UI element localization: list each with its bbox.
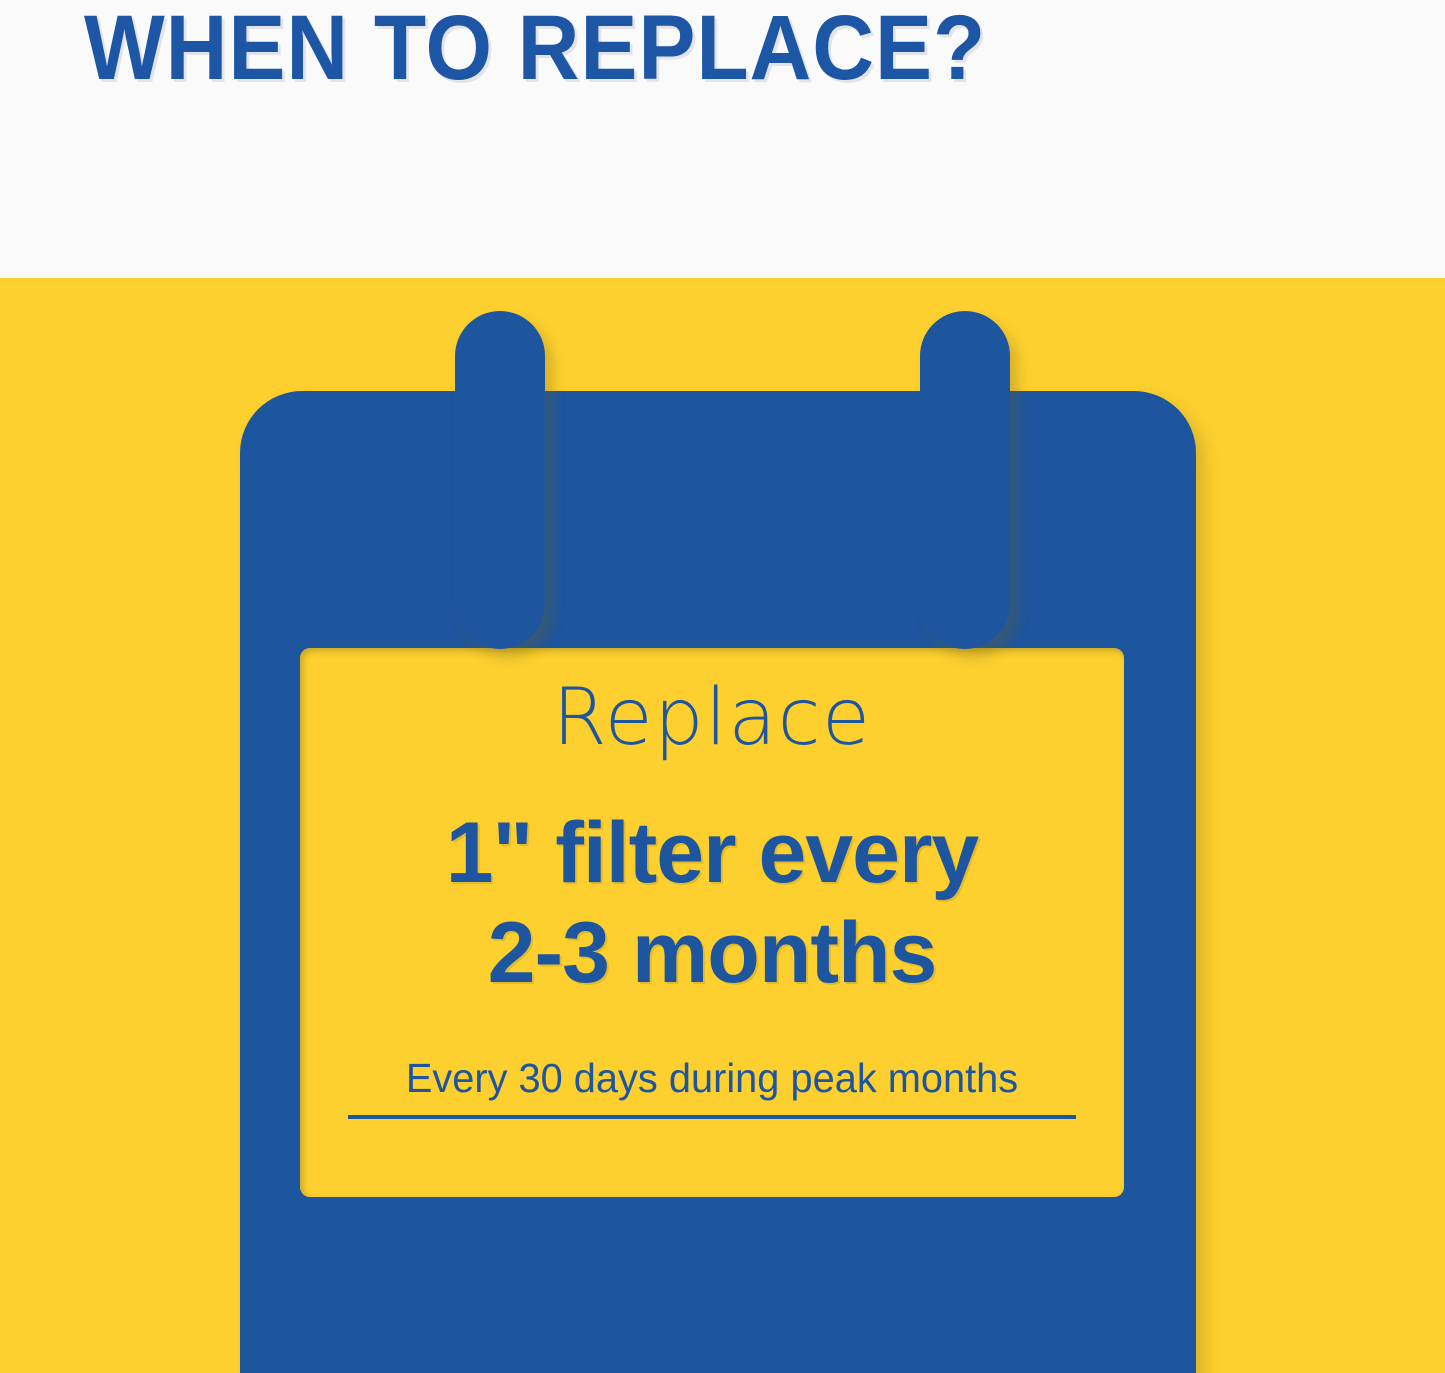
calendar-icon: Replace 1" filter every 2-3 months Every…	[240, 391, 1196, 1373]
replace-headline-line-2: 2-3 months	[300, 903, 1124, 1003]
replace-kicker: Replace	[300, 674, 1124, 762]
calendar-ring-left	[455, 311, 545, 649]
calendar-window-content: Replace 1" filter every 2-3 months Every…	[300, 648, 1124, 1197]
replace-headline-line-1: 1" filter every	[300, 803, 1124, 903]
yellow-panel: Replace 1" filter every 2-3 months Every…	[0, 278, 1445, 1373]
calendar-ring-right	[920, 311, 1010, 649]
when-to-replace-poster: WHEN TO REPLACE? Replace 1" filter every…	[0, 0, 1445, 1373]
page-title: WHEN TO REPLACE?	[84, 0, 1126, 102]
replace-headline: 1" filter every 2-3 months	[300, 803, 1124, 1003]
subnote-divider	[348, 1115, 1076, 1119]
calendar-window: Replace 1" filter every 2-3 months Every…	[300, 648, 1124, 1197]
header-band: WHEN TO REPLACE?	[0, 0, 1445, 278]
replace-subnote: Every 30 days during peak months	[359, 1052, 1065, 1104]
